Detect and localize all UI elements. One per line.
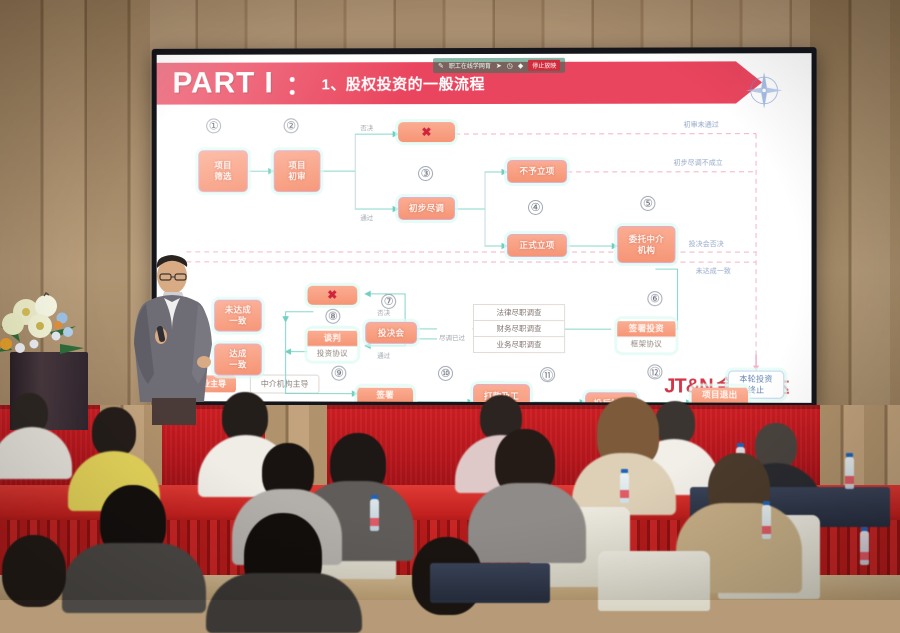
water-bottle — [370, 499, 379, 531]
audience-head — [92, 407, 136, 457]
flow-node-no-approval: 不予立项 — [507, 160, 567, 183]
edge-label-dd-done: 尽调已过 — [439, 332, 465, 342]
dash-label-no-agreement: 未达成一致 — [696, 266, 731, 276]
node-number: ⑨ — [331, 366, 346, 381]
node-number: ① — [206, 118, 221, 133]
dash-label-dd-failed: 初步尽调不成立 — [674, 158, 723, 168]
audience-shoulders — [62, 543, 206, 613]
flow-node-reject-2: ✖ — [307, 286, 357, 305]
node-number: ⑫ — [647, 364, 662, 379]
flow-node-preliminary-dd: 初步尽调 — [398, 197, 455, 220]
edge-label-pass: 通过 — [360, 212, 373, 222]
water-bottle — [845, 457, 854, 489]
pen-icon[interactable]: ✎ — [438, 62, 444, 70]
flowchart: ① 项目筛选 ② 项目初审 否决 ✖ 通过 ③ 初步尽调 不予立项 ④ 正式立项… — [157, 53, 812, 403]
node-number: ⑪ — [540, 367, 555, 382]
flow-node-project-screening: 项目筛选 — [198, 150, 248, 192]
flow-node-negotiation: 谈判投资协议 — [307, 329, 357, 361]
audience-shoulders — [0, 427, 72, 479]
pointer-icon[interactable]: ➤ — [496, 61, 502, 69]
node-number: ② — [284, 118, 299, 133]
clock-icon[interactable]: ◷ — [507, 61, 513, 69]
dd-item-legal: 法律尽职调查 — [473, 304, 565, 321]
flow-node-initial-review: 项目初审 — [274, 150, 321, 192]
due-diligence-list: 法律尽职调查 财务尽职调查 业务尽职调查 — [473, 304, 565, 352]
audience-head — [2, 535, 66, 607]
node-number: ⑧ — [325, 309, 340, 324]
node-number: ⑤ — [640, 196, 655, 211]
audience-shoulders — [206, 573, 362, 633]
water-bottle — [860, 531, 869, 565]
projection-screen-bezel: PART I ： 1、股权投资的一般流程 ✎ 职工在线学网育 ➤ ◷ ◆ 停止放… — [152, 47, 817, 409]
flower-arrangement — [0, 292, 98, 364]
node-number: ④ — [528, 200, 543, 215]
flow-node-investment-committee: 投决会 — [365, 322, 417, 344]
dash-label-committee-rejected: 投决会否决 — [689, 239, 724, 249]
dot-icon[interactable]: ◆ — [518, 61, 523, 69]
conference-table — [430, 563, 550, 603]
node-number: ③ — [418, 166, 433, 181]
flow-node-sign-term-sheet: 签署投资框架协议 — [617, 319, 675, 352]
audience-shoulders — [468, 483, 586, 563]
water-bottle — [762, 505, 771, 539]
edge-label-pass-2: 通过 — [377, 350, 390, 360]
water-bottle — [620, 473, 629, 503]
flow-node-formal-approval: 正式立项 — [507, 234, 567, 257]
conference-room-scene: PART I ： 1、股权投资的一般流程 ✎ 职工在线学网育 ➤ ◷ ◆ 停止放… — [0, 0, 900, 600]
node-number: ⑥ — [647, 291, 662, 306]
toolbar-label: 职工在线学网育 — [449, 61, 491, 70]
stop-presentation-button[interactable]: 停止放映 — [528, 60, 560, 71]
dash-label-review-failed: 初审未通过 — [684, 120, 719, 130]
dd-item-financial: 财务尽职调查 — [473, 320, 565, 337]
presentation-toolbar[interactable]: ✎ 职工在线学网育 ➤ ◷ ◆ 停止放映 — [433, 58, 565, 73]
audience — [0, 395, 900, 600]
dd-item-business: 业务尽职调查 — [473, 336, 565, 353]
edge-label-reject: 否决 — [360, 122, 373, 132]
flow-node-reject-1: ✖ — [398, 122, 455, 142]
edge-label-reject-2: 否决 — [377, 307, 390, 317]
audience-chair — [598, 551, 710, 611]
projection-screen: PART I ： 1、股权投资的一般流程 ✎ 职工在线学网育 ➤ ◷ ◆ 停止放… — [157, 53, 812, 403]
flow-node-engage-intermediary: 委托中介机构 — [617, 226, 675, 263]
node-number: ⑩ — [438, 366, 453, 381]
